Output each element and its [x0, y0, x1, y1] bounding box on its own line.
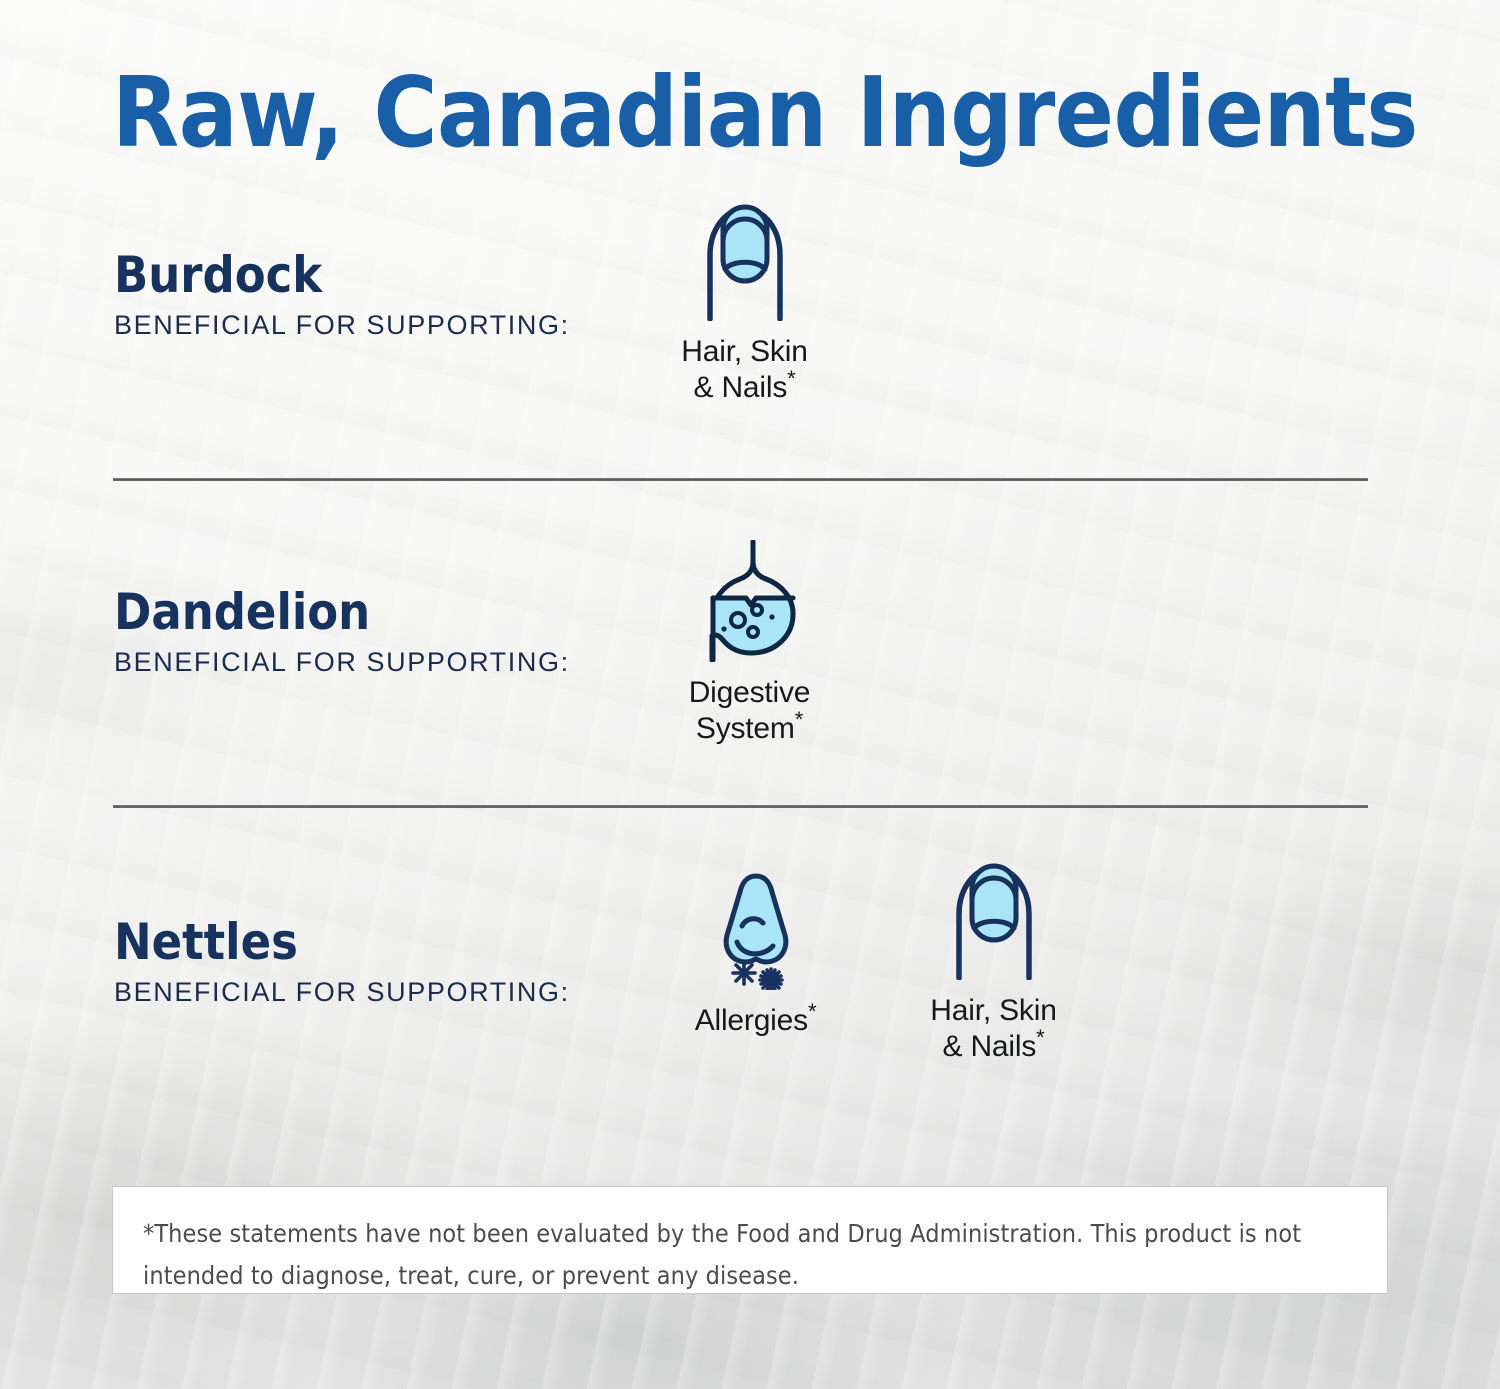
ingredient-label-group: Dandelion BENEFICIAL FOR SUPPORTING:: [114, 585, 634, 678]
benefit-caption-line1: Hair, Skin: [930, 994, 1056, 1027]
ingredient-name: Burdock: [114, 248, 634, 302]
benefit-caption: Digestive System*: [642, 675, 857, 747]
ingredient-name: Dandelion: [114, 585, 634, 639]
benefit-caption-line2: & Nails: [694, 371, 788, 404]
benefit-caption-line1: Hair, Skin: [681, 335, 807, 368]
nose-allergy-icon: [648, 870, 863, 990]
stomach-icon: [642, 542, 857, 662]
benefit-caption-asterisk: *: [808, 999, 816, 1024]
section-divider: [113, 805, 1368, 808]
fingernail-icon: [886, 860, 1101, 980]
ingredient-subtitle: BENEFICIAL FOR SUPPORTING:: [114, 976, 634, 1008]
benefit-caption: Allergies*: [648, 1003, 863, 1039]
page-title: Raw, Canadian Ingredients: [112, 61, 1412, 165]
benefit-caption-asterisk: *: [787, 366, 795, 391]
benefit-caption-line2: & Nails: [943, 1030, 1037, 1063]
ingredient-name: Nettles: [114, 915, 634, 969]
benefit-list: Hair, Skin & Nails*: [637, 201, 852, 406]
section-divider: [113, 478, 1368, 481]
ingredient-subtitle: BENEFICIAL FOR SUPPORTING:: [114, 309, 634, 341]
fingernail-icon: [637, 201, 852, 321]
benefit-caption-line1: Allergies: [695, 1004, 808, 1037]
benefit-caption-line2: System: [696, 712, 795, 745]
benefit-item: Digestive System*: [642, 542, 857, 747]
ingredient-subtitle: BENEFICIAL FOR SUPPORTING:: [114, 646, 634, 678]
benefit-list: Allergies* Hair, Skin & Nails*: [648, 870, 1101, 1065]
ingredient-label-group: Burdock BENEFICIAL FOR SUPPORTING:: [114, 248, 634, 341]
benefit-caption-asterisk: *: [795, 707, 803, 732]
benefit-caption-asterisk: *: [1036, 1025, 1044, 1050]
benefit-item: Hair, Skin & Nails*: [637, 201, 852, 406]
benefit-list: Digestive System*: [642, 542, 857, 747]
ingredient-label-group: Nettles BENEFICIAL FOR SUPPORTING:: [114, 915, 634, 1008]
benefit-caption-line1: Digestive: [689, 676, 811, 709]
ingredients-infographic: Raw, Canadian Ingredients Burdock BENEFI…: [0, 0, 1500, 1389]
benefit-item: Allergies*: [648, 870, 863, 1039]
benefit-caption: Hair, Skin & Nails*: [886, 993, 1101, 1065]
benefit-item: Hair, Skin & Nails*: [886, 860, 1101, 1065]
disclaimer-box: *These statements have not been evaluate…: [112, 1186, 1388, 1294]
disclaimer-text: *These statements have not been evaluate…: [113, 1187, 1387, 1297]
benefit-caption: Hair, Skin & Nails*: [637, 334, 852, 406]
